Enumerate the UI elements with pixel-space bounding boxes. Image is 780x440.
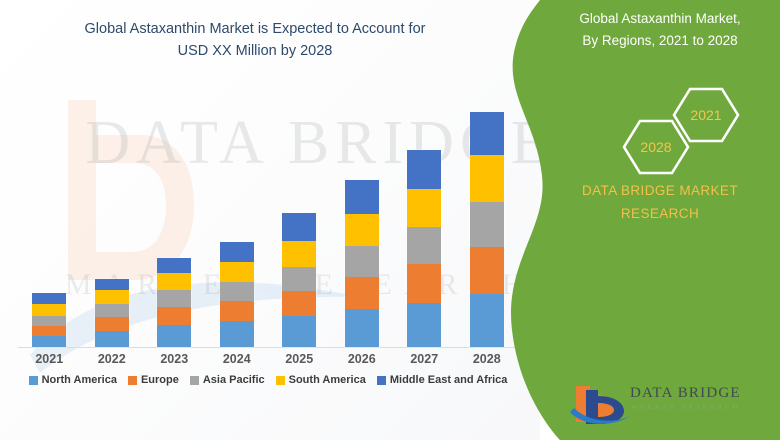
infographic-canvas: DATA BRIDGE MARKET RESEARCH Global Astax…	[0, 0, 780, 440]
bar-segment[interactable]	[345, 277, 379, 309]
chart-title-line1: Global Astaxanthin Market is Expected to…	[85, 21, 426, 37]
bar-segment[interactable]	[220, 242, 254, 262]
side-panel: Global Astaxanthin Market, By Regions, 2…	[540, 0, 780, 440]
bar-segment[interactable]	[95, 331, 129, 347]
bar-segment[interactable]	[345, 214, 379, 246]
stacked-bar[interactable]	[95, 279, 129, 347]
chart-panel: DATA BRIDGE MARKET RESEARCH Global Astax…	[0, 0, 540, 440]
bar-segment[interactable]	[282, 291, 316, 316]
bar-segment[interactable]	[220, 301, 254, 321]
x-axis-label: 2028	[458, 352, 516, 366]
legend-item[interactable]: Europe	[128, 374, 179, 386]
bar-segment[interactable]	[95, 279, 129, 290]
legend-swatch-icon	[276, 376, 285, 385]
stacked-bar[interactable]	[407, 150, 441, 347]
bar-slot	[145, 100, 203, 347]
bar-segment[interactable]	[470, 112, 504, 155]
bar-segment[interactable]	[220, 262, 254, 282]
stacked-bar[interactable]	[220, 242, 254, 347]
bar-slot	[458, 100, 516, 347]
legend-label: South America	[289, 374, 366, 386]
legend-swatch-icon	[377, 376, 386, 385]
bar-segment[interactable]	[220, 282, 254, 301]
legend-item[interactable]: South America	[276, 374, 366, 386]
stacked-bar[interactable]	[282, 213, 316, 347]
legend-swatch-icon	[128, 376, 137, 385]
legend-label: North America	[42, 374, 117, 386]
bar-segment[interactable]	[157, 325, 191, 347]
hexagon-2028-label: 2028	[624, 139, 688, 155]
bar-segment[interactable]	[470, 247, 504, 294]
bar-segment[interactable]	[282, 267, 316, 291]
bar-segment[interactable]	[220, 321, 254, 347]
bar-segment[interactable]	[407, 150, 441, 189]
legend-item[interactable]: Middle East and Africa	[377, 374, 508, 386]
bar-segment[interactable]	[95, 317, 129, 331]
bar-segment[interactable]	[157, 290, 191, 307]
x-axis-label: 2027	[395, 352, 453, 366]
bar-segment[interactable]	[345, 309, 379, 347]
hexagon-outlines-icon	[540, 85, 780, 180]
bar-segment[interactable]	[32, 316, 66, 326]
bar-segment[interactable]	[95, 304, 129, 317]
stacked-bar[interactable]	[345, 180, 379, 347]
bar-segment[interactable]	[157, 258, 191, 273]
x-axis-label: 2025	[270, 352, 328, 366]
side-panel-title-line2: By Regions, 2021 to 2028	[582, 33, 737, 48]
x-axis-labels: 20212022202320242025202620272028	[18, 352, 518, 366]
bar-segment[interactable]	[32, 293, 66, 304]
side-panel-title: Global Astaxanthin Market, By Regions, 2…	[552, 8, 768, 51]
bar-segment[interactable]	[282, 213, 316, 241]
x-axis-label: 2021	[20, 352, 78, 366]
bar-segment[interactable]	[32, 304, 66, 316]
chart-title-line2: USD XX Million by 2028	[178, 43, 333, 59]
legend-label: Europe	[141, 374, 179, 386]
logo-subtext: MARKET RESEARCH	[631, 404, 740, 411]
bar-slot	[20, 100, 78, 347]
bar-segment[interactable]	[470, 294, 504, 347]
bar-segment[interactable]	[470, 202, 504, 247]
bar-slot	[208, 100, 266, 347]
axis-baseline	[18, 347, 518, 348]
stacked-bar[interactable]	[470, 112, 504, 347]
bar-segment[interactable]	[345, 180, 379, 214]
bar-segment[interactable]	[157, 307, 191, 325]
legend-label: Middle East and Africa	[390, 374, 508, 386]
legend-label: Asia Pacific	[203, 374, 265, 386]
bar-segment[interactable]	[407, 227, 441, 264]
bar-segment[interactable]	[95, 290, 129, 304]
brand-text: DATA BRIDGE MARKET RESEARCH	[548, 180, 772, 226]
company-logo: DATA BRIDGE MARKET RESEARCH	[568, 382, 768, 428]
x-axis-label: 2024	[208, 352, 266, 366]
bar-segment[interactable]	[345, 246, 379, 277]
plot-area	[18, 100, 518, 348]
bar-segment[interactable]	[407, 189, 441, 227]
bar-segment[interactable]	[407, 264, 441, 303]
stacked-bar[interactable]	[32, 293, 66, 347]
brand-line1: DATA BRIDGE MARKET	[582, 183, 738, 198]
x-axis-label: 2022	[83, 352, 141, 366]
bar-slot	[83, 100, 141, 347]
side-panel-title-line1: Global Astaxanthin Market,	[579, 11, 740, 26]
legend-swatch-icon	[29, 376, 38, 385]
legend-swatch-icon	[190, 376, 199, 385]
hexagon-group: 2021 2028	[540, 85, 780, 180]
bar-group	[18, 100, 518, 347]
bar-segment[interactable]	[282, 241, 316, 267]
bar-segment[interactable]	[282, 316, 316, 347]
bar-segment[interactable]	[157, 273, 191, 290]
bar-segment[interactable]	[470, 155, 504, 202]
logo-text: DATA BRIDGE	[630, 385, 741, 402]
bar-slot	[333, 100, 391, 347]
bar-segment[interactable]	[32, 326, 66, 336]
chart-title: Global Astaxanthin Market is Expected to…	[40, 18, 470, 63]
chart-legend: North AmericaEuropeAsia PacificSouth Ame…	[18, 374, 518, 386]
hexagon-2021-label: 2021	[674, 107, 738, 123]
bar-slot	[395, 100, 453, 347]
legend-item[interactable]: North America	[29, 374, 117, 386]
brand-line2: RESEARCH	[621, 206, 699, 221]
x-axis-label: 2023	[145, 352, 203, 366]
legend-item[interactable]: Asia Pacific	[190, 374, 265, 386]
bar-segment[interactable]	[407, 303, 441, 347]
stacked-bar[interactable]	[157, 258, 191, 347]
bar-slot	[270, 100, 328, 347]
x-axis-label: 2026	[333, 352, 391, 366]
bar-segment[interactable]	[32, 336, 66, 347]
